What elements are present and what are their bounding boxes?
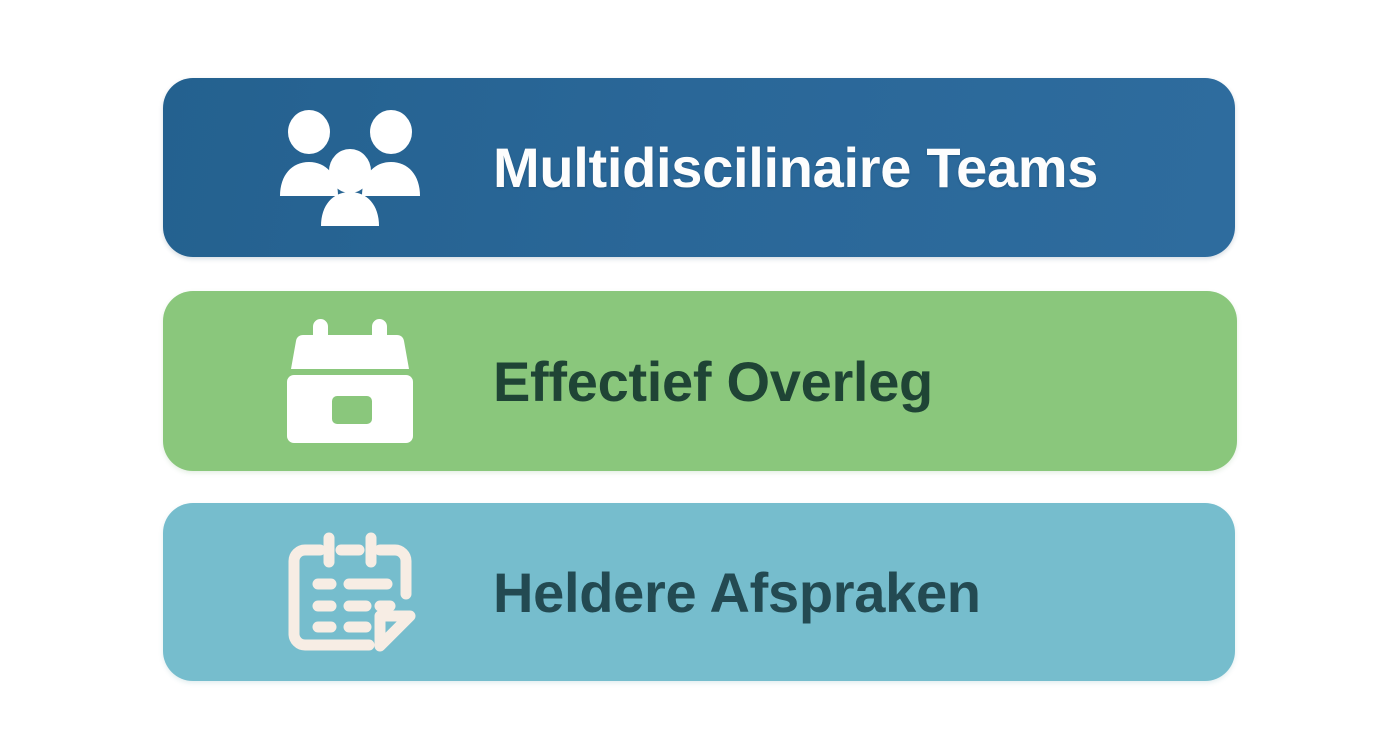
card-label-heldere-afspraken: Heldere Afspraken	[493, 560, 1235, 625]
people-group-icon	[275, 109, 425, 227]
calendar-icon	[275, 319, 425, 443]
card-stack: Multidiscilinaire Teams Effectief Overle…	[0, 0, 1392, 752]
card-multidisciplinaire-teams[interactable]: Multidiscilinaire Teams	[163, 78, 1235, 257]
card-heldere-afspraken[interactable]: Heldere Afspraken	[163, 503, 1235, 681]
checklist-edit-icon	[275, 528, 425, 656]
card-label-effectief-overleg: Effectief Overleg	[493, 349, 1237, 414]
card-label-multidisciplinaire-teams: Multidiscilinaire Teams	[493, 135, 1235, 200]
card-effectief-overleg[interactable]: Effectief Overleg	[163, 291, 1237, 471]
